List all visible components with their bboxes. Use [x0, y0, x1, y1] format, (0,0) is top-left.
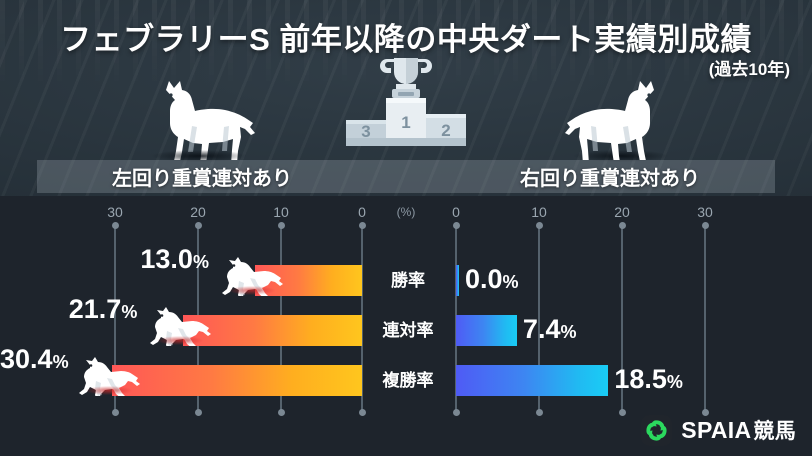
running-horse-marker-left-win-rate: [221, 256, 283, 296]
axis-tick-right-0: 0: [452, 204, 460, 220]
svg-text:2: 2: [441, 121, 450, 140]
axis-unit-label: (%): [397, 205, 416, 219]
brand-name-latin: SPAIA: [681, 417, 751, 443]
running-horse-marker-left-place-rate: [149, 306, 211, 346]
group-label-left: 左回り重賞連対あり: [37, 162, 367, 191]
spaia-pinwheel-icon: [641, 415, 672, 446]
axis-tick-left-0: 0: [358, 204, 366, 220]
bar-value-right-win-rate: 0.0%: [465, 264, 519, 298]
bar-left-show-rate: [112, 365, 362, 396]
chart-area: 30 20 10 0 (%) 0 10 20 30 13.0% 勝率 0.0% …: [0, 196, 812, 456]
axis-tick-right-30: 30: [697, 204, 713, 220]
gridline-right-30: [704, 226, 706, 412]
bar-right-win-rate: [456, 265, 459, 296]
axis-tick-left-20: 20: [190, 204, 206, 220]
bar-value-right-place-rate: 7.4%: [523, 314, 577, 348]
bar-value-right-show-rate: 18.5%: [614, 364, 683, 398]
bar-value-left-place-rate: 21.7%: [0, 294, 137, 328]
running-horse-marker-left-show-rate: [78, 356, 140, 396]
bar-right-show-rate: [456, 365, 608, 396]
category-label-place-rate: 連対率: [362, 315, 454, 346]
bar-value-left-show-rate: 30.4%: [0, 344, 66, 378]
brand-logo: SPAIA競馬: [641, 414, 796, 446]
standing-horse-icon-right: [562, 78, 680, 160]
page-subtitle: (過去10年): [709, 55, 790, 80]
standing-horse-icon-left: [140, 78, 258, 160]
category-label-win-rate: 勝率: [362, 265, 454, 296]
brand-name-jp: 競馬: [753, 420, 796, 443]
axis-tick-left-30: 30: [107, 204, 123, 220]
bar-value-left-win-rate: 13.0%: [0, 244, 209, 278]
podium-trophy-illustration: 1 2 3: [334, 48, 478, 160]
brand-name: SPAIA競馬: [681, 415, 796, 445]
horse-silhouette-left: [140, 78, 258, 160]
svg-text:1: 1: [401, 113, 410, 132]
bar-right-place-rate: [456, 315, 517, 346]
axis-tick-left-10: 10: [273, 204, 289, 220]
header-banner: フェブラリーS 前年以降の中央ダート実績別成績 (過去10年): [0, 0, 812, 196]
svg-text:3: 3: [361, 122, 370, 141]
category-label-show-rate: 複勝率: [362, 365, 454, 396]
infographic-root: フェブラリーS 前年以降の中央ダート実績別成績 (過去10年): [0, 0, 812, 456]
group-label-right: 右回り重賞連対あり: [445, 162, 775, 191]
axis-tick-right-20: 20: [614, 204, 630, 220]
trophy-podium-icon: 1 2 3: [334, 48, 478, 160]
axis-tick-right-10: 10: [531, 204, 547, 220]
horse-silhouette-right: [562, 78, 680, 160]
